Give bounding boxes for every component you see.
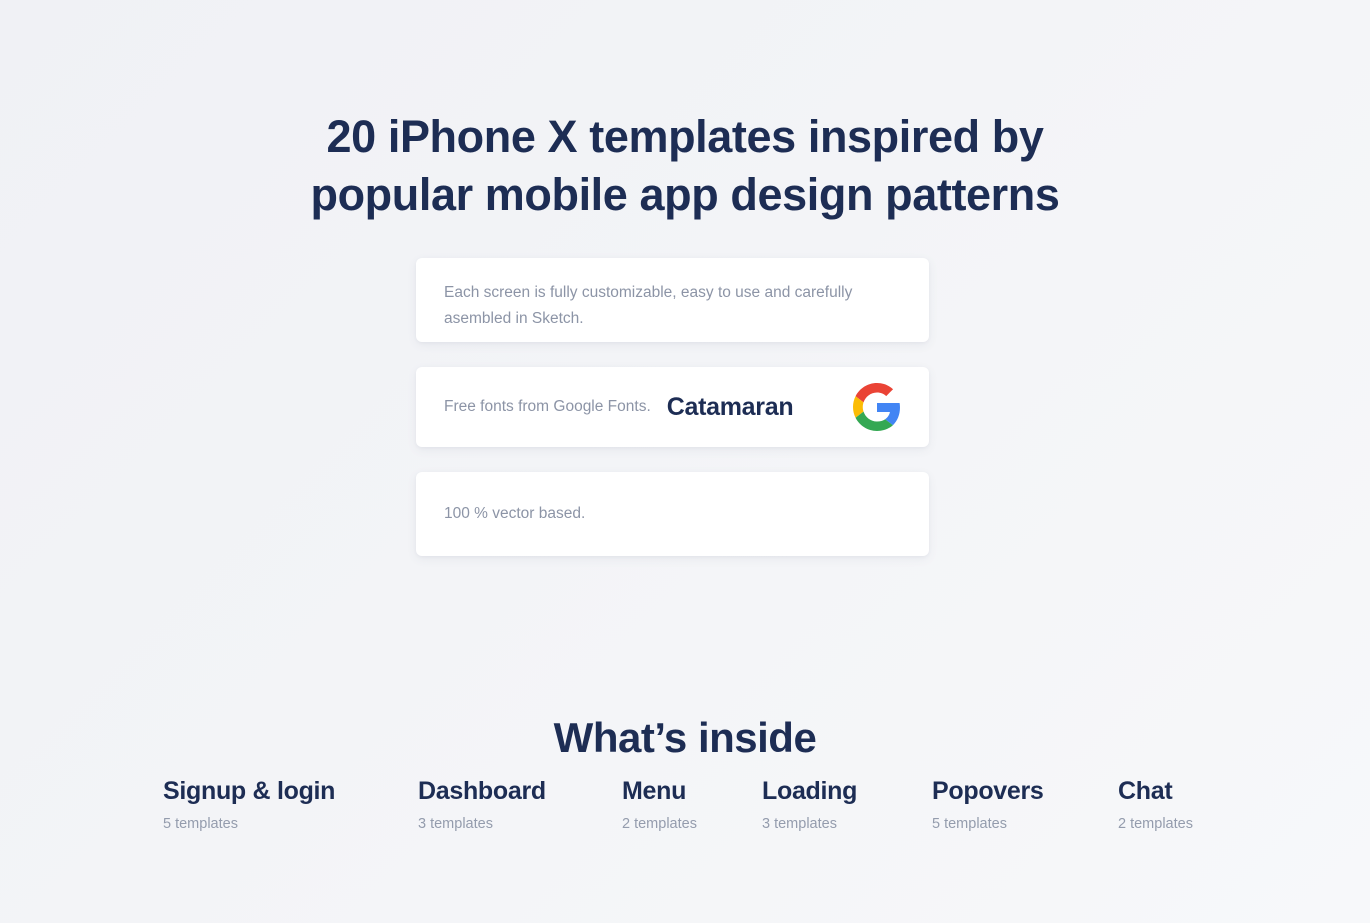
category-loading[interactable]: Loading 3 templates bbox=[762, 776, 857, 834]
vector-card-text: 100 % vector based. bbox=[444, 501, 585, 527]
page-title-line-1: 20 iPhone X templates inspired by bbox=[0, 108, 1370, 166]
category-chat[interactable]: Chat 2 templates bbox=[1118, 776, 1193, 834]
category-count: 3 templates bbox=[418, 814, 546, 834]
landing-page: 20 iPhone X templates inspired by popula… bbox=[0, 0, 1370, 923]
page-title: 20 iPhone X templates inspired by popula… bbox=[0, 108, 1370, 224]
category-count: 2 templates bbox=[1118, 814, 1193, 834]
category-menu[interactable]: Menu 2 templates bbox=[622, 776, 697, 834]
category-count: 2 templates bbox=[622, 814, 697, 834]
feature-card-customizable: Each screen is fully customizable, easy … bbox=[416, 258, 929, 342]
feature-card-vector: 100 % vector based. bbox=[416, 472, 929, 556]
category-name: Menu bbox=[622, 776, 697, 806]
category-name: Popovers bbox=[932, 776, 1044, 806]
category-popovers[interactable]: Popovers 5 templates bbox=[932, 776, 1044, 834]
customizable-card-text: Each screen is fully customizable, easy … bbox=[444, 280, 901, 332]
category-name: Chat bbox=[1118, 776, 1193, 806]
fonts-card-note: Free fonts from Google Fonts. bbox=[444, 396, 651, 418]
category-list: Signup & login 5 templates Dashboard 3 t… bbox=[163, 776, 1283, 846]
feature-card-fonts: Free fonts from Google Fonts. Catamaran bbox=[416, 367, 929, 447]
customizable-card-line-1: Each screen is fully customizable, easy … bbox=[444, 280, 901, 306]
feature-card-list: Each screen is fully customizable, easy … bbox=[416, 258, 929, 581]
category-signup-login[interactable]: Signup & login 5 templates bbox=[163, 776, 335, 834]
customizable-card-line-2: asembled in Sketch. bbox=[444, 306, 901, 332]
page-title-line-2: popular mobile app design patterns bbox=[0, 166, 1370, 224]
category-dashboard[interactable]: Dashboard 3 templates bbox=[418, 776, 546, 834]
fonts-card-font-name: Catamaran bbox=[667, 395, 794, 420]
category-count: 5 templates bbox=[163, 814, 335, 834]
section-title-whats-inside: What’s inside bbox=[0, 713, 1370, 763]
category-name: Dashboard bbox=[418, 776, 546, 806]
category-count: 5 templates bbox=[932, 814, 1044, 834]
category-name: Signup & login bbox=[163, 776, 335, 806]
category-name: Loading bbox=[762, 776, 857, 806]
category-count: 3 templates bbox=[762, 814, 857, 834]
google-logo-icon bbox=[853, 383, 901, 431]
